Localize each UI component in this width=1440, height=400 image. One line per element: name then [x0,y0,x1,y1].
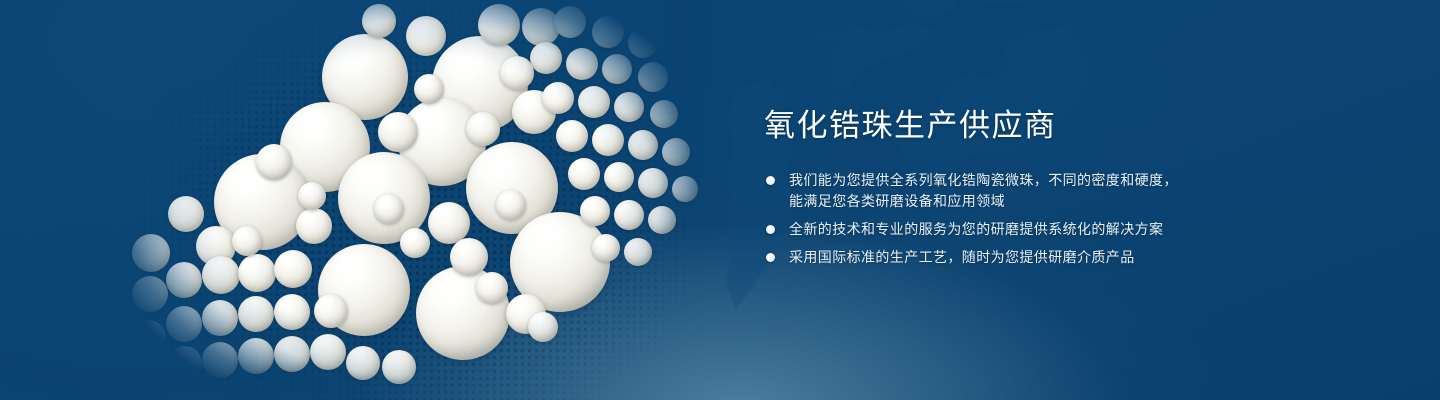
zirconia-beads-photo [110,0,730,400]
list-item-line1: 采用国际标准的生产工艺，随时为您提供研磨介质产品 [789,249,1135,265]
bullet-dot-icon [766,176,775,185]
hero-banner: 氧化锆珠生产供应商 我们能为您提供全系列氧化锆陶瓷微珠，不同的密度和硬度， 能满… [0,0,1440,400]
list-item: 我们能为您提供全系列氧化锆陶瓷微珠，不同的密度和硬度， 能满足您各类研磨设备和应… [762,170,1262,212]
list-item-text: 全新的技术和专业的服务为您的研磨提供系统化的解决方案 [789,219,1262,240]
feature-list: 我们能为您提供全系列氧化锆陶瓷微珠，不同的密度和硬度， 能满足您各类研磨设备和应… [762,170,1262,268]
bullet-dot-icon [766,225,775,234]
list-item-line1: 我们能为您提供全系列氧化锆陶瓷微珠，不同的密度和硬度， [789,172,1178,188]
list-item: 采用国际标准的生产工艺，随时为您提供研磨介质产品 [762,247,1262,268]
list-item-text: 我们能为您提供全系列氧化锆陶瓷微珠，不同的密度和硬度， 能满足您各类研磨设备和应… [789,170,1262,212]
list-item-text: 采用国际标准的生产工艺，随时为您提供研磨介质产品 [789,247,1262,268]
page-title: 氧化锆珠生产供应商 [764,106,1262,146]
list-item-line2: 能满足您各类研磨设备和应用领域 [789,191,1262,212]
bullet-dot-icon [766,253,775,262]
banner-copy: 氧化锆珠生产供应商 我们能为您提供全系列氧化锆陶瓷微珠，不同的密度和硬度， 能满… [762,106,1262,268]
list-item: 全新的技术和专业的服务为您的研磨提供系统化的解决方案 [762,219,1262,240]
list-item-line1: 全新的技术和专业的服务为您的研磨提供系统化的解决方案 [789,221,1163,237]
